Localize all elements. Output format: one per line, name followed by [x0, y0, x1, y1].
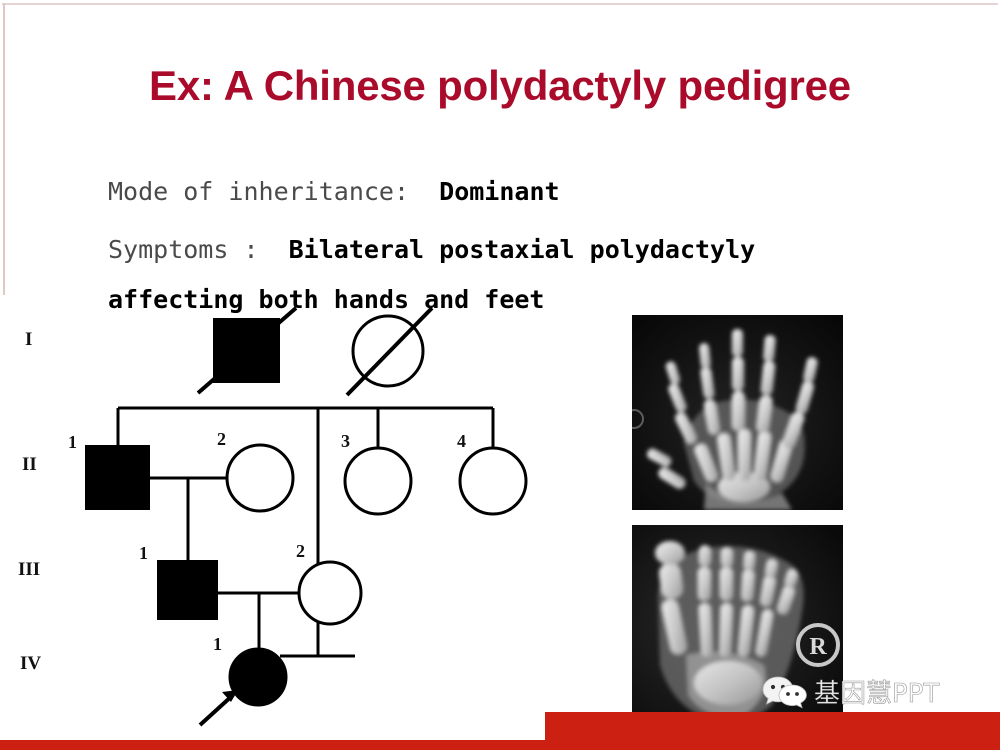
page-title: Ex: A Chinese polydactyly pedigree	[0, 62, 1000, 110]
xray-foot-marker-label: R	[809, 634, 827, 660]
mode-of-inheritance-label: Mode of inheritance:	[108, 177, 409, 206]
symptoms-line: Symptoms : Bilateral postaxial polydacty…	[108, 225, 908, 275]
individual-number-ii-4: 4	[457, 431, 466, 451]
individual-ii-2-unaffected-female[interactable]	[227, 445, 293, 511]
mode-of-inheritance-line: Mode of inheritance: Dominant	[108, 167, 908, 217]
symptoms-value-line-1: Bilateral postaxial polydactyly	[289, 235, 756, 264]
individual-ii-1-affected-male[interactable]	[85, 445, 150, 510]
content-block: Mode of inheritance: Dominant Symptoms :…	[108, 167, 908, 325]
individual-number-ii-1: 1	[68, 432, 77, 452]
individual-number-iii-1: 1	[139, 543, 148, 563]
xray-image-hand[interactable]	[632, 315, 843, 510]
footer-accent-bar-right	[545, 712, 1000, 750]
individual-iii-1-affected-male[interactable]	[157, 560, 218, 620]
generation-label-ii: II	[22, 454, 37, 475]
frame-left-rule	[3, 3, 5, 295]
footer-accent-bar-left	[0, 740, 548, 750]
individual-i-1-fill	[218, 323, 275, 378]
symptoms-label: Symptoms :	[108, 235, 259, 264]
individual-number-ii-2: 2	[217, 429, 226, 449]
individual-iv-1-affected-female-proband[interactable]	[230, 649, 286, 705]
individual-number-iii-2: 2	[296, 541, 305, 561]
individual-number-ii-3: 3	[341, 431, 350, 451]
individual-iii-2-unaffected-female[interactable]	[299, 562, 361, 624]
slide-root: Ex: A Chinese polydactyly pedigree Mode …	[0, 0, 1000, 750]
frame-top-rule	[2, 3, 998, 5]
proband-arrow-icon	[200, 690, 238, 725]
mode-of-inheritance-value: Dominant	[439, 177, 559, 206]
xray-image-foot[interactable]: R	[632, 525, 843, 721]
pedigree-chart: I II III IV 1 2 3 4 1 2 1	[0, 305, 600, 750]
individual-ii-3-unaffected-female[interactable]	[345, 448, 411, 514]
individual-ii-4-unaffected-female[interactable]	[460, 448, 526, 514]
generation-label-iii: III	[18, 559, 40, 580]
generation-label-iv: IV	[20, 653, 41, 674]
individual-number-iv-1: 1	[213, 634, 222, 654]
generation-label-i: I	[25, 329, 32, 350]
